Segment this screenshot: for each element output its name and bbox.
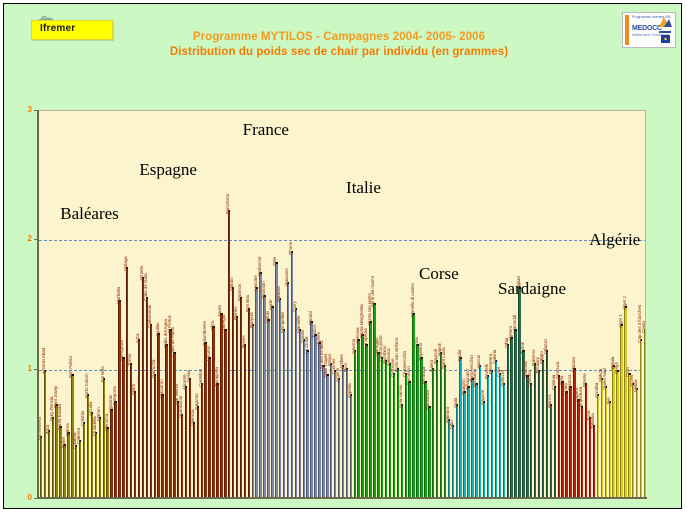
bar [616, 370, 618, 497]
bar-label: Montpellier [280, 311, 285, 332]
bar [208, 357, 210, 497]
bar-label: Tarragona [214, 367, 219, 387]
bar-label: Ibiza [45, 425, 50, 434]
bar [157, 333, 159, 497]
bar-label: Antonio Abad [41, 348, 46, 374]
bar [534, 363, 536, 498]
bar [550, 404, 552, 497]
bar [303, 339, 305, 497]
bar [310, 321, 312, 497]
bar-label: Banyuls [249, 312, 254, 328]
bar [365, 344, 367, 497]
bar-label: Adra [135, 334, 140, 343]
y-tick-mark-0 [34, 498, 38, 499]
bar-label: Ceuta [641, 321, 646, 333]
bar [597, 394, 599, 497]
gridline-2 [39, 240, 646, 241]
page-title: Programme MYTILOS - Campagnes 2004- 2005… [114, 30, 564, 45]
bar-label: Leucate [253, 276, 258, 292]
bar-label: Gruissan [261, 282, 266, 300]
bar [150, 324, 152, 497]
medocc-mark-icon [657, 15, 673, 45]
bar [67, 432, 69, 497]
y-tick-label-3: 3 [10, 105, 32, 114]
region-label-corse: Corse [419, 264, 459, 284]
y-axis-line [37, 110, 39, 499]
y-tick-label-0: 0 [10, 493, 32, 502]
bar [499, 373, 501, 497]
bar-label: Roses [241, 336, 246, 349]
bar-label: Mataro [229, 278, 234, 292]
bar-label: Dellys [614, 362, 619, 374]
bar [240, 297, 242, 497]
bar [201, 383, 203, 497]
bar-label: Rhone [288, 242, 293, 255]
bar-label: Jijel [606, 398, 611, 405]
bar [405, 373, 407, 497]
bar [565, 391, 567, 497]
bar-label: Monello di casino [410, 284, 415, 318]
region-label-italie: Italie [346, 178, 381, 198]
bar [224, 329, 226, 497]
bar [216, 383, 218, 497]
bar-label: Alger 1 [618, 314, 623, 328]
bar [134, 391, 136, 497]
bar [248, 308, 250, 497]
bar [612, 365, 614, 497]
bar-label: Hauxane [284, 269, 289, 287]
bar-label: Torrox [127, 354, 132, 366]
bar-label: Galeria [492, 350, 497, 364]
bar-label: La Ciotat [304, 336, 309, 354]
bar [252, 324, 254, 497]
bar [546, 350, 548, 497]
bar-label: Terracina [421, 367, 426, 385]
bar [118, 300, 120, 497]
bar-label: Fuengirola [119, 341, 124, 362]
region-label-sardaigne: Sardaigne [498, 279, 566, 299]
bar [507, 344, 509, 497]
bar [491, 370, 493, 497]
bar [350, 394, 352, 497]
bar-label: Sciacca [567, 374, 572, 389]
bar-label: Mazarron [159, 379, 164, 398]
bar-label: Ajaccio [476, 355, 481, 369]
bar-label: Soller [61, 437, 66, 448]
bar [530, 383, 532, 497]
bar-label: Narbonne [257, 257, 262, 276]
bar-label: Columbretes [202, 321, 207, 346]
bar [283, 329, 285, 497]
bar [138, 339, 140, 497]
bar [197, 406, 199, 497]
bar [479, 365, 481, 497]
bar [185, 386, 187, 497]
medocc-logo: Programme Interreg IIIB MEDOCC Mediterra… [622, 12, 676, 48]
bar [558, 375, 560, 497]
bar [95, 432, 97, 497]
bar [444, 365, 446, 497]
bar [189, 378, 191, 497]
bar [330, 363, 332, 498]
bar [569, 386, 571, 497]
bar-label: Forte dei marmi [370, 276, 375, 307]
bar [483, 401, 485, 497]
bar [204, 342, 206, 497]
bar-label: Sagunto [194, 394, 199, 410]
page-subtitle: Distribution du poids sec de chair par i… [114, 45, 564, 60]
ifremer-logo: Ifremer [31, 20, 113, 40]
bar [514, 329, 516, 497]
bar-label: Palavas [276, 286, 281, 302]
bar [295, 308, 297, 497]
region-label-espagne: Espagne [139, 160, 197, 180]
bar [640, 339, 642, 497]
bar [342, 365, 344, 497]
bar-label: Porto san stefano [394, 337, 399, 371]
bar [601, 378, 603, 497]
bar [271, 306, 273, 497]
y-tick-mark-1 [34, 369, 38, 370]
bar-label: Menorca [104, 414, 109, 431]
bar-label: Cabrera [76, 428, 81, 444]
bar [165, 344, 167, 497]
bar [381, 357, 383, 497]
bar-label: Llobregat [221, 315, 226, 333]
bar [103, 378, 105, 497]
x-axis-line [37, 497, 647, 499]
bar-label: Marbella [116, 288, 121, 305]
bar [436, 360, 438, 497]
bar [369, 321, 371, 497]
bar-label: Porto Colom [84, 373, 89, 397]
bar-label: Carboneras [147, 305, 152, 328]
bar [408, 381, 410, 497]
bar [518, 287, 520, 497]
bar-label: Agde [268, 299, 273, 309]
bar-label: Bonifacio [472, 369, 477, 387]
bar [432, 368, 434, 497]
bar [416, 344, 418, 497]
chart-plot-area: FormenteraAntonio AbadIbizaPuig d'EnviaS… [38, 110, 646, 498]
bar-label: Saint Lucia [441, 347, 446, 369]
bar [291, 251, 293, 497]
bar-label: Vibo [449, 420, 454, 429]
bar [357, 339, 359, 497]
bar [495, 360, 497, 497]
bar [467, 386, 469, 497]
bar-label: Ostriconi [500, 370, 505, 387]
bar [471, 378, 473, 497]
bar [475, 383, 477, 497]
bar [628, 373, 630, 497]
bar [456, 404, 458, 497]
bar [338, 378, 340, 497]
bar-label: La Spezia [363, 329, 368, 349]
bar [373, 303, 375, 497]
bar-label: Estepona [112, 387, 117, 406]
bar-label: Aguilas [155, 322, 160, 336]
bar [428, 406, 430, 497]
screenshot-frame: Ifremer Programme MYTILOS - Campagnes 20… [3, 3, 682, 509]
bar [609, 401, 611, 497]
bar-label: Colonia [80, 411, 85, 426]
bar [561, 381, 563, 497]
bar-label: Mahon [96, 407, 101, 421]
bar-label: Argens [335, 368, 340, 382]
bar-label: Mazara [571, 357, 576, 372]
y-tick-mark-3 [34, 110, 38, 111]
bar-label: Palma [65, 424, 70, 437]
bar [503, 383, 505, 497]
bar [173, 352, 175, 497]
y-tick-mark-2 [34, 239, 38, 240]
bar [255, 287, 257, 497]
bar [263, 295, 265, 497]
bar-label: Valencia [190, 410, 195, 426]
bar [361, 334, 363, 497]
bar-label: Melilla [633, 380, 638, 392]
bar [322, 365, 324, 497]
bar [63, 444, 65, 497]
bar [79, 440, 81, 497]
bar-label: Nice [343, 363, 348, 372]
bar-label: Bianco [547, 394, 552, 407]
bar [83, 422, 85, 497]
bar-label: Cabo de Palos [170, 327, 175, 356]
bar [40, 436, 42, 497]
bar [299, 329, 301, 497]
bar [130, 363, 132, 498]
header: Ifremer Programme MYTILOS - Campagnes 20… [4, 4, 681, 96]
bar [220, 313, 222, 497]
bar [510, 337, 512, 497]
bar-label: Palamos [237, 283, 242, 300]
bar [142, 277, 144, 497]
chart-plot-wrapper: FormenteraAntonio AbadIbizaPuig d'EnviaS… [38, 110, 646, 498]
bar [632, 383, 634, 497]
bar-label: Castellon [198, 369, 203, 387]
bar-label: Guardamar [178, 396, 183, 418]
bar-label: Port Bou [245, 295, 250, 312]
bar-label: Milazzo [543, 339, 548, 354]
bar-label: Annaba [594, 382, 599, 397]
bar [393, 373, 395, 497]
region-label-france: France [243, 120, 289, 140]
bar [593, 425, 595, 497]
ifremer-label: Ifremer [40, 23, 75, 34]
bar [487, 375, 489, 497]
bar [154, 374, 156, 497]
bar-label: Carry [292, 301, 297, 312]
bar [75, 445, 77, 497]
bar [228, 210, 230, 497]
bar-label: Tabarka [590, 413, 595, 429]
bar [181, 414, 183, 497]
bar [389, 363, 391, 498]
bar [106, 427, 108, 497]
bar [542, 360, 544, 497]
bar-label: Garrucha [151, 360, 156, 378]
bar [126, 267, 128, 497]
bar-label: Sete [272, 257, 277, 266]
bar [554, 386, 556, 497]
bar-label: Motril [131, 384, 136, 395]
y-tick-label-2: 2 [10, 234, 32, 243]
bar-label: Denia [186, 370, 191, 382]
bar-label: Port Palma [68, 356, 73, 378]
bar-label: Ebro [210, 321, 215, 330]
bar [314, 334, 316, 497]
bar-label: Tortoli [520, 342, 525, 354]
bar [212, 326, 214, 497]
bar-label: Blanes [233, 306, 238, 319]
bar-label: Santa Eulalia [57, 404, 62, 430]
bar-label: Oristano [527, 371, 532, 388]
bar [236, 316, 238, 497]
bar [52, 417, 54, 497]
bar [334, 370, 336, 497]
bar [259, 272, 261, 497]
bar-label: Alcudia [88, 401, 93, 415]
bar-label: Fornells [100, 366, 105, 382]
bar-label: Gioia [453, 398, 458, 408]
bar-label: Bandol [308, 311, 313, 325]
bar [306, 350, 308, 497]
bar [122, 357, 124, 497]
bar-label: Alger 2 [622, 296, 627, 310]
bar-label: Ouled Said [602, 368, 607, 390]
bar-label: Lampedusa [578, 387, 583, 410]
bar [401, 404, 403, 497]
bar [644, 329, 646, 497]
bar [448, 419, 450, 497]
bar [585, 383, 587, 497]
bar-label: Torpetino [418, 343, 423, 361]
bar [452, 425, 454, 497]
bar-label: Sagone [480, 390, 485, 405]
bar-label: Imperia [347, 383, 352, 398]
bar [385, 360, 387, 497]
bar-label: Vinaros [206, 347, 211, 362]
bar [110, 409, 112, 497]
bar [636, 388, 638, 497]
chart-title-block: Programme MYTILOS - Campagnes 2004- 2005… [114, 30, 564, 60]
bar-label: Bizerte [582, 374, 587, 388]
bar [48, 430, 50, 497]
bar-label: Fiumicino [406, 366, 411, 385]
bar [440, 352, 442, 497]
medocc-accent-bar [625, 15, 629, 45]
bar-label: Marceddi [512, 315, 517, 333]
bar [577, 399, 579, 497]
bar [287, 282, 289, 497]
region-label-algrie: Algérie [589, 230, 640, 250]
bar [193, 422, 195, 497]
bar [326, 374, 328, 497]
bar-label: Valras [265, 310, 270, 322]
bar [244, 344, 246, 497]
bar [526, 375, 528, 497]
y-tick-label-1: 1 [10, 364, 32, 373]
bar [354, 350, 356, 497]
bar [99, 417, 101, 497]
bar [463, 391, 465, 497]
bar [624, 306, 626, 497]
bar-label: Isola sannio [398, 385, 403, 408]
bar-label: Badia [457, 350, 462, 361]
bar-label: Malaga [123, 256, 128, 270]
bar [377, 352, 379, 497]
bar-label: Palmarola [425, 391, 430, 411]
bar [114, 401, 116, 497]
bar [581, 406, 583, 497]
bar [161, 394, 163, 497]
region-label-balares: Baléares [60, 204, 119, 224]
bar [538, 370, 540, 497]
bar [620, 324, 622, 497]
bar [267, 319, 269, 497]
bar-label: Cabo de Gata [143, 273, 148, 300]
bar-label: Barcelona [225, 194, 230, 214]
